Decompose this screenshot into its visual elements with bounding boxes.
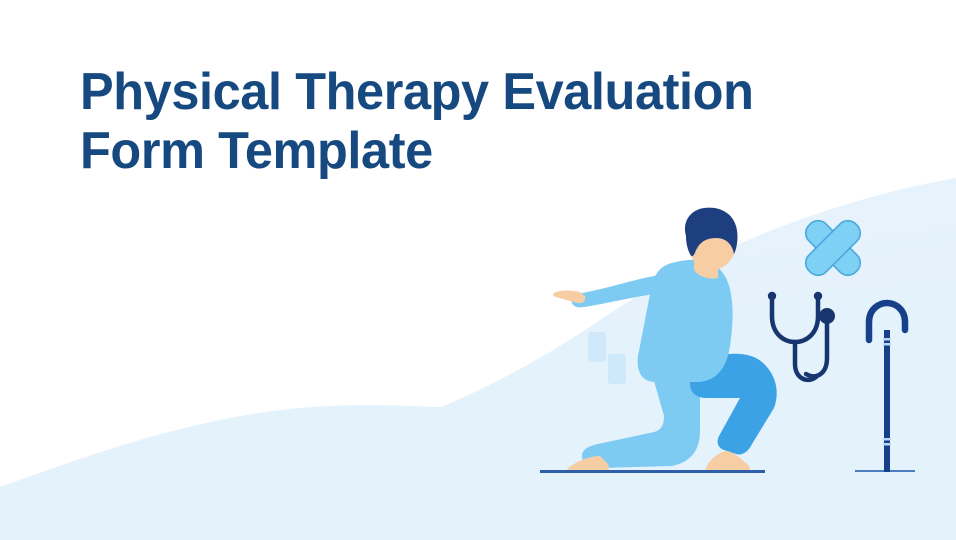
bandage-strip-b (801, 216, 865, 280)
figure-back-foot (567, 456, 609, 472)
figure-back-leg (582, 360, 700, 468)
ground-line (540, 470, 765, 473)
figure-hair (685, 208, 738, 256)
wave-shape-right (0, 178, 956, 540)
figure-neck (694, 255, 718, 279)
figure-torso (638, 260, 733, 382)
ground-line-right (855, 470, 915, 472)
stethoscope-earpiece-left (768, 292, 776, 300)
stethoscope-tube-right (806, 322, 827, 376)
figure-ear (689, 241, 699, 251)
stethoscope-tube (795, 342, 816, 380)
figure-front-foot (706, 451, 750, 472)
stethoscope-binaural (772, 300, 818, 342)
figure-front-leg (690, 354, 777, 455)
title-line-2: Form Template (80, 122, 788, 181)
wave-shape-front (0, 300, 956, 540)
figure-arm (571, 270, 698, 307)
walking-cane-icon (869, 303, 905, 472)
title-line-1: Physical Therapy Evaluation (80, 63, 788, 122)
stethoscope-earpiece-right (814, 292, 822, 300)
bandage-strip-a (801, 216, 865, 280)
cane-shaft (884, 330, 890, 472)
figure-hand (553, 291, 585, 304)
cane-band-lower-b (883, 443, 891, 446)
stethoscope-chestpiece (819, 308, 835, 324)
decor-rectangle-tall (588, 332, 606, 362)
figure-hair-highlight (688, 212, 720, 232)
kneeling-exercise-figure (553, 208, 777, 472)
cane-band-upper-a (883, 338, 891, 341)
stethoscope-icon (768, 292, 835, 380)
figure-head (687, 210, 737, 270)
page-title: Physical Therapy Evaluation Form Templat… (80, 63, 810, 181)
cane-band-lower-a (883, 438, 891, 441)
slide-canvas: Physical Therapy Evaluation Form Templat… (0, 0, 956, 540)
decor-rectangle-short (608, 354, 626, 384)
cane-band-upper-b (883, 343, 891, 346)
cane-handle (869, 303, 905, 340)
bandage-cross-icon (801, 216, 865, 280)
